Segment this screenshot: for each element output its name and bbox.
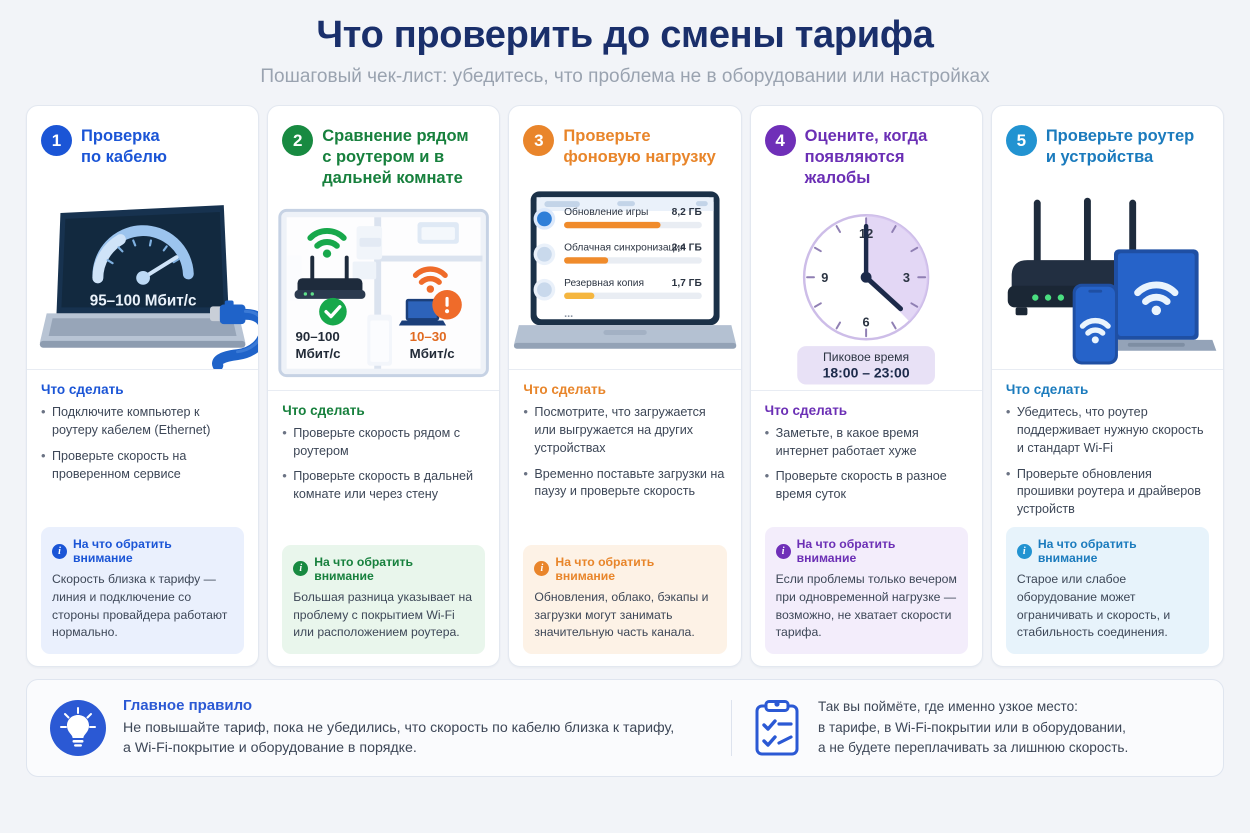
floorplan-illustration: 90–100 Мбит/с 10–30 Мбит/с xyxy=(268,195,499,390)
todo-label: Что сделать xyxy=(765,403,968,418)
info-icon: i xyxy=(293,561,308,576)
card-illustration: Обновление игры 8,2 ГБ Облачная синхрони… xyxy=(509,174,740,369)
note-wrap: i На что обратить внимание Большая разни… xyxy=(282,545,485,666)
note-wrap: i На что обратить внимание Скорость близ… xyxy=(41,527,244,666)
attention-note: i На что обратить внимание Старое или сл… xyxy=(1006,527,1209,654)
svg-text:90–100: 90–100 xyxy=(296,329,340,344)
infographic-page: Что проверить до смены тарифа Пошаговый … xyxy=(0,0,1250,833)
step-card-5: 5 Проверьте роутер и устройства xyxy=(991,105,1224,667)
note-title: На что обратить внимание xyxy=(73,537,233,565)
card-header: 4 Оцените, когда появляются жалобы xyxy=(751,106,982,192)
todo-list: Убедитесь, что роутер поддерживает нужну… xyxy=(1006,404,1209,527)
card-header: 2 Сравнение рядом с роутером и в дальней… xyxy=(268,106,499,192)
svg-text:Облачная синхронизация: Облачная синхронизация xyxy=(565,241,687,253)
todo-item: Проверьте скорость рядом с роутером xyxy=(282,425,485,461)
svg-text:8,2 ГБ: 8,2 ГБ xyxy=(672,207,702,218)
todo-label: Что сделать xyxy=(1006,382,1209,397)
note-title: На что обратить внимание xyxy=(1038,537,1198,565)
info-icon: i xyxy=(52,544,67,559)
footer-divider xyxy=(731,700,732,756)
svg-text:10–30: 10–30 xyxy=(410,329,447,344)
card-title: Проверка по кабелю xyxy=(81,124,167,168)
note-header: i На что обратить внимание xyxy=(293,555,474,583)
page-subtitle: Пошаговый чек-лист: убедитесь, что пробл… xyxy=(26,66,1224,89)
svg-text:18:00 – 23:00: 18:00 – 23:00 xyxy=(822,364,909,380)
note-text: Обновления, облако, бэкапы и загрузки мо… xyxy=(534,589,715,642)
todo-item: Проверьте скорость на проверенном сервис… xyxy=(41,448,244,484)
cards-row: 1 Проверка по кабелю 95–100 Мбит/с xyxy=(26,105,1224,667)
attention-note: i На что обратить внимание Если проблемы… xyxy=(765,527,968,654)
note-text: Большая разница указывает на проблему с … xyxy=(293,589,474,642)
todo-item: Убедитесь, что роутер поддерживает нужну… xyxy=(1006,404,1209,458)
attention-note: i На что обратить внимание Большая разни… xyxy=(282,545,485,654)
footer-banner: Главное правило Не повышайте тариф, пока… xyxy=(26,679,1224,777)
card-title: Оцените, когда появляются жалобы xyxy=(805,124,968,188)
note-wrap: i На что обратить внимание Если проблемы… xyxy=(765,527,968,666)
router-devices-illustration xyxy=(992,174,1223,369)
todo-item: Посмотрите, что загружается или выгружае… xyxy=(523,404,726,458)
todo-item: Заметьте, в какое время интернет работае… xyxy=(765,425,968,461)
todo-list: Посмотрите, что загружается или выгружае… xyxy=(523,404,726,509)
card-title: Проверьте роутер и устройства xyxy=(1046,124,1194,168)
card-header: 5 Проверьте роутер и устройства xyxy=(992,106,1223,172)
svg-text:Обновление игры: Обновление игры xyxy=(565,206,649,218)
todo-item: Временно поставьте загрузки на паузу и п… xyxy=(523,466,726,502)
clock-illustration: 12 3 6 9 Пиковое время 18:00 – 23:00 xyxy=(751,195,982,390)
note-wrap: i На что обратить внимание Старое или сл… xyxy=(1006,527,1209,666)
svg-text:6: 6 xyxy=(862,314,869,329)
card-body: Что сделать Заметьте, в какое время инте… xyxy=(751,391,982,666)
todo-item: Проверьте скорость в разное время суток xyxy=(765,468,968,504)
footer-main-rule: Главное правило Не повышайте тариф, пока… xyxy=(49,697,731,759)
todo-label: Что сделать xyxy=(41,382,244,397)
todo-list: Подключите компьютер к роутеру кабелем (… xyxy=(41,404,244,492)
step-card-2: 2 Сравнение рядом с роутером и в дальней… xyxy=(267,105,500,667)
card-illustration: 90–100 Мбит/с 10–30 Мбит/с xyxy=(268,195,499,390)
card-illustration: 12 3 6 9 Пиковое время 18:00 – 23:00 xyxy=(751,195,982,390)
svg-text:2,4 ГБ: 2,4 ГБ xyxy=(672,242,702,253)
card-illustration: 95–100 Мбит/с xyxy=(27,174,258,369)
todo-item: Проверьте скорость в дальней комнате или… xyxy=(282,468,485,504)
todo-label: Что сделать xyxy=(282,403,485,418)
svg-text:Резервная копия: Резервная копия xyxy=(565,278,645,289)
todo-label: Что сделать xyxy=(523,382,726,397)
clipboard-checklist-icon xyxy=(752,699,802,757)
card-body: Что сделать Убедитесь, что роутер поддер… xyxy=(992,370,1223,666)
step-number-badge: 2 xyxy=(282,125,313,156)
note-header: i На что обратить внимание xyxy=(776,537,957,565)
note-title: На что обратить внимание xyxy=(797,537,957,565)
header: Что проверить до смены тарифа Пошаговый … xyxy=(26,0,1224,88)
card-title: Проверьте фоновую нагрузку xyxy=(563,124,715,168)
laptop-downloads-illustration: Обновление игры 8,2 ГБ Облачная синхрони… xyxy=(509,174,740,369)
footer-summary-text: Так вы поймёте, где именно узкое место: … xyxy=(818,697,1128,758)
note-text: Скорость близка к тарифу — линия и подкл… xyxy=(52,571,233,642)
step-number-badge: 3 xyxy=(523,125,554,156)
step-card-1: 1 Проверка по кабелю 95–100 Мбит/с xyxy=(26,105,259,667)
card-body: Что сделать Посмотрите, что загружается … xyxy=(509,370,740,666)
note-wrap: i На что обратить внимание Обновления, о… xyxy=(523,545,726,666)
step-number-badge: 5 xyxy=(1006,125,1037,156)
card-header: 3 Проверьте фоновую нагрузку xyxy=(509,106,740,172)
note-title: На что обратить внимание xyxy=(314,555,474,583)
todo-item: Проверьте обновления прошивки роутера и … xyxy=(1006,466,1209,520)
svg-text:Мбит/с: Мбит/с xyxy=(410,346,455,361)
note-header: i На что обратить внимание xyxy=(534,555,715,583)
step-number-badge: 1 xyxy=(41,125,72,156)
svg-text:...: ... xyxy=(565,308,574,320)
footer-summary: Так вы поймёте, где именно узкое место: … xyxy=(752,697,1128,758)
step-card-4: 4 Оцените, когда появляются жалобы 12 3 … xyxy=(750,105,983,667)
lightbulb-icon xyxy=(49,699,107,757)
card-body: Что сделать Подключите компьютер к роуте… xyxy=(27,370,258,666)
svg-text:95–100 Мбит/с: 95–100 Мбит/с xyxy=(90,292,197,309)
svg-text:9: 9 xyxy=(821,270,828,285)
card-body: Что сделать Проверьте скорость рядом с р… xyxy=(268,391,499,666)
laptop-speedometer-illustration: 95–100 Мбит/с xyxy=(27,174,258,369)
attention-note: i На что обратить внимание Обновления, о… xyxy=(523,545,726,654)
svg-text:Пиковое время: Пиковое время xyxy=(823,350,909,364)
note-header: i На что обратить внимание xyxy=(52,537,233,565)
info-icon: i xyxy=(1017,544,1032,559)
card-title: Сравнение рядом с роутером и в дальней к… xyxy=(322,124,468,188)
step-number-badge: 4 xyxy=(765,125,796,156)
info-icon: i xyxy=(534,561,549,576)
todo-list: Заметьте, в какое время интернет работае… xyxy=(765,425,968,513)
page-title: Что проверить до смены тарифа xyxy=(26,14,1224,57)
card-illustration xyxy=(992,174,1223,369)
footer-rule-title: Главное правило xyxy=(123,697,674,714)
todo-item: Подключите компьютер к роутеру кабелем (… xyxy=(41,404,244,440)
svg-text:1,7 ГБ: 1,7 ГБ xyxy=(672,278,702,289)
info-icon: i xyxy=(776,544,791,559)
svg-text:3: 3 xyxy=(903,270,910,285)
svg-text:Мбит/с: Мбит/с xyxy=(296,346,341,361)
footer-rule-text: Не повышайте тариф, пока не убедились, ч… xyxy=(123,718,674,759)
note-title: На что обратить внимание xyxy=(555,555,715,583)
todo-list: Проверьте скорость рядом с роутеромПрове… xyxy=(282,425,485,513)
card-header: 1 Проверка по кабелю xyxy=(27,106,258,172)
note-header: i На что обратить внимание xyxy=(1017,537,1198,565)
step-card-3: 3 Проверьте фоновую нагрузку Обновление … xyxy=(508,105,741,667)
attention-note: i На что обратить внимание Скорость близ… xyxy=(41,527,244,654)
note-text: Если проблемы только вечером при одновре… xyxy=(776,571,957,642)
note-text: Старое или слабое оборудование может огр… xyxy=(1017,571,1198,642)
